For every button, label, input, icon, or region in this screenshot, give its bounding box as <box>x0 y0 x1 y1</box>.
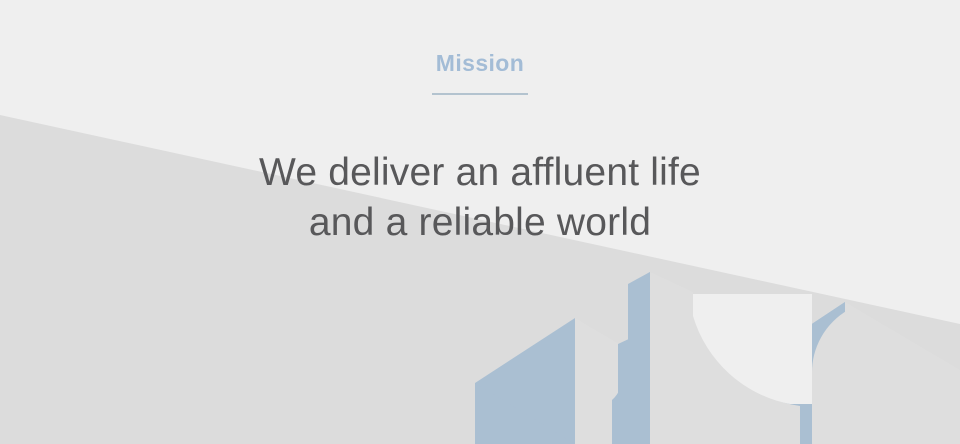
hook-column-shaft-highlight <box>628 272 650 444</box>
decorative-artwork <box>0 0 960 444</box>
hook-column-shaft <box>650 272 693 444</box>
mission-banner: Mission We deliver an affluent life and … <box>0 0 960 444</box>
